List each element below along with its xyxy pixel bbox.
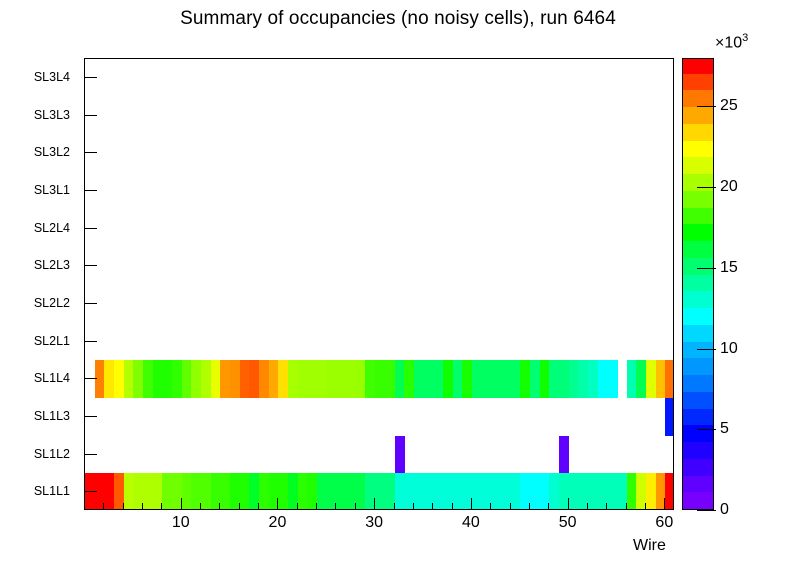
y-axis-tick <box>84 152 97 153</box>
heatmap-cell <box>665 398 674 436</box>
color-scale-tick-label: 0 <box>720 501 729 519</box>
color-scale-band <box>683 157 713 174</box>
x-axis-minor-tick <box>355 503 356 509</box>
x-axis-major-tick <box>664 498 665 509</box>
y-axis-tick <box>84 303 97 304</box>
x-axis-minor-tick <box>626 503 627 509</box>
color-scale-band <box>683 257 713 274</box>
color-scale-band <box>683 123 713 140</box>
heatmap-cell <box>607 360 617 398</box>
y-axis-tick <box>84 115 97 116</box>
y-axis-tick-label: SL1L2 <box>34 447 70 461</box>
color-scale-band <box>683 324 713 341</box>
x-axis-tick-label: 50 <box>559 514 577 532</box>
color-scale-band <box>683 391 713 408</box>
x-axis-minor-tick <box>84 503 85 509</box>
x-axis-minor-tick <box>394 503 395 509</box>
y-axis-tick-label: SL3L3 <box>34 108 70 122</box>
y-axis-tick <box>84 77 97 78</box>
color-scale-tick <box>697 187 716 188</box>
color-scale-band <box>683 224 713 241</box>
color-scale-band <box>683 207 713 224</box>
color-scale-band <box>683 190 713 207</box>
x-axis-minor-tick <box>529 503 530 509</box>
x-axis-minor-tick <box>200 503 201 509</box>
color-scale-tick-label: 5 <box>720 420 729 438</box>
y-axis-tick-label: SL1L3 <box>34 409 70 423</box>
x-axis-minor-tick <box>239 503 240 509</box>
x-axis-minor-tick <box>316 503 317 509</box>
y-axis-tick <box>84 454 97 455</box>
color-scale-band <box>683 73 713 90</box>
heatmap-cell <box>665 473 674 510</box>
x-axis-minor-tick <box>142 503 143 509</box>
color-scale-band <box>683 375 713 392</box>
color-scale-band <box>683 425 713 442</box>
y-axis-tick-label: SL3L4 <box>34 70 70 84</box>
y-axis-tick-label: SL2L3 <box>34 258 70 272</box>
color-scale-band <box>683 291 713 308</box>
x-axis-major-tick <box>181 498 182 509</box>
color-scale-tick <box>697 429 716 430</box>
plot-frame[interactable] <box>84 58 674 510</box>
color-scale-band <box>683 475 713 492</box>
x-axis-tick-label: 10 <box>172 514 190 532</box>
y-axis-tick <box>84 228 97 229</box>
y-axis-tick-label: SL3L2 <box>34 145 70 159</box>
x-axis-major-tick <box>568 498 569 509</box>
page-title: Summary of occupancies (no noisy cells),… <box>0 8 796 30</box>
x-axis-minor-tick <box>452 503 453 509</box>
x-axis-minor-tick <box>123 503 124 509</box>
y-axis-labels: SL3L4SL3L3SL3L2SL3L1SL2L4SL2L3SL2L2SL2L1… <box>0 58 84 510</box>
y-axis-tick-label: SL2L2 <box>34 296 70 310</box>
x-axis-major-tick <box>374 498 375 509</box>
color-scale-exponent: ×103 <box>715 32 748 52</box>
y-axis-tick-label: SL1L1 <box>34 484 70 498</box>
color-scale-band <box>683 458 713 475</box>
y-axis-tick <box>84 341 97 342</box>
color-scale-band <box>683 241 713 258</box>
y-axis-tick <box>84 378 97 379</box>
y-axis-tick-label: SL3L1 <box>34 183 70 197</box>
heatmap-cell <box>665 360 674 398</box>
color-scale-band <box>683 274 713 291</box>
x-axis-minor-tick <box>432 503 433 509</box>
color-scale-tick-label: 25 <box>720 97 738 115</box>
x-axis-minor-tick <box>413 503 414 509</box>
x-axis-minor-tick <box>548 503 549 509</box>
color-scale-band <box>683 58 713 74</box>
x-axis-minor-tick <box>490 503 491 509</box>
color-scale-band <box>683 90 713 107</box>
x-axis-title: Wire <box>633 537 666 555</box>
color-scale-band <box>683 408 713 425</box>
color-scale-tick <box>697 349 716 350</box>
x-axis-major-tick <box>277 498 278 509</box>
x-axis-minor-tick <box>587 503 588 509</box>
x-axis-minor-tick <box>335 503 336 509</box>
color-scale-tick <box>697 510 716 511</box>
x-axis-minor-tick <box>219 503 220 509</box>
x-axis-minor-tick <box>161 503 162 509</box>
color-scale-tick-label: 15 <box>720 259 738 277</box>
color-scale-band <box>683 140 713 157</box>
heatmap-cell <box>395 436 405 474</box>
x-axis-tick-label: 20 <box>269 514 287 532</box>
color-scale-bar <box>682 58 714 510</box>
y-axis-tick-label: SL2L4 <box>34 221 70 235</box>
color-scale-tick-label: 20 <box>720 178 738 196</box>
heatmap-cells <box>85 59 673 509</box>
x-axis-major-tick <box>471 498 472 509</box>
x-axis-tick-label: 30 <box>365 514 383 532</box>
color-scale-band <box>683 441 713 458</box>
color-scale-band <box>683 341 713 358</box>
x-axis-minor-tick <box>645 503 646 509</box>
root-canvas: Summary of occupancies (no noisy cells),… <box>0 0 796 572</box>
color-scale-band <box>683 107 713 124</box>
x-axis-minor-tick <box>297 503 298 509</box>
x-axis-tick-label: 60 <box>655 514 673 532</box>
x-axis-tick-label: 40 <box>462 514 480 532</box>
y-axis-tick <box>84 416 97 417</box>
color-scale-tick <box>697 268 716 269</box>
color-scale-band <box>683 492 713 509</box>
x-axis-minor-tick <box>103 503 104 509</box>
x-axis-minor-tick <box>258 503 259 509</box>
x-axis-minor-tick <box>510 503 511 509</box>
y-axis-tick <box>84 265 97 266</box>
y-axis-tick-label: SL2L1 <box>34 334 70 348</box>
color-scale-band <box>683 308 713 325</box>
y-axis-tick <box>84 491 97 492</box>
x-axis-minor-tick <box>606 503 607 509</box>
color-scale-tick <box>697 106 716 107</box>
color-scale-band <box>683 358 713 375</box>
y-axis-tick <box>84 190 97 191</box>
color-scale-band <box>683 174 713 191</box>
heatmap-cell <box>559 436 569 474</box>
y-axis-tick-label: SL1L4 <box>34 371 70 385</box>
color-scale-tick-label: 10 <box>720 340 738 358</box>
